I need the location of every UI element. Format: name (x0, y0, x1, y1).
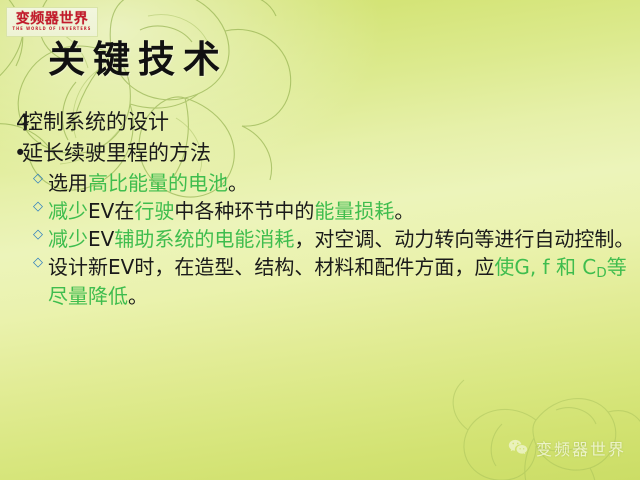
list-item: ◇ 减少EV在行驶中各种环节中的能量损耗。 (0, 198, 640, 224)
slide-body: 4. 控制系统的设计 • 延长续驶里程的方法 ◇ 选用高比能量的电池。 ◇ 减少… (0, 108, 640, 309)
diamond-marker-icon: ◇ (33, 171, 43, 188)
list-item: ◇ 减少EV辅助系统的电能消耗，对空调、动力转向等进行自动控制。 (0, 226, 640, 252)
main-bullet: • 延长续驶里程的方法 (0, 139, 640, 168)
wechat-icon (507, 437, 529, 459)
watermark-text: 变频器世界 (536, 436, 626, 460)
slide-title: 关键技术 (48, 41, 228, 80)
diamond-marker-icon: ◇ (33, 199, 43, 216)
flower-decoration-bottom (416, 350, 640, 480)
sub-bullet-text: 选用高比能量的电池。 (48, 171, 248, 195)
bullet-marker: • (14, 139, 26, 168)
section-heading-text: 控制系统的设计 (22, 110, 169, 134)
list-item: ◇ 设计新EV时，在造型、结构、材料和配件方面，应使G, f 和 CD等尽量降低… (0, 254, 640, 309)
main-bullet-text: 延长续驶里程的方法 (22, 141, 211, 165)
sub-bullet-text: 设计新EV时，在造型、结构、材料和配件方面，应使G, f 和 CD等尽量降低。 (48, 255, 627, 308)
diamond-marker-icon: ◇ (33, 255, 43, 272)
section-heading: 4. 控制系统的设计 (0, 108, 640, 137)
brand-logo: 变频器世界 THE WORLD OF INVERTERS (6, 7, 98, 37)
presentation-slide: 变频器世界 THE WORLD OF INVERTERS 关键技术 4. 控制系… (0, 0, 640, 480)
watermark: 变频器世界 (507, 436, 626, 460)
sub-bullet-text: 减少EV在行驶中各种环节中的能量损耗。 (48, 199, 414, 223)
logo-english-tagline: THE WORLD OF INVERTERS (13, 28, 92, 32)
diamond-marker-icon: ◇ (33, 227, 43, 244)
sub-bullet-text: 减少EV辅助系统的电能消耗，对空调、动力转向等进行自动控制。 (48, 227, 634, 251)
list-item: ◇ 选用高比能量的电池。 (0, 170, 640, 196)
logo-chinese-name: 变频器世界 (16, 12, 89, 26)
section-number: 4. (16, 108, 36, 137)
